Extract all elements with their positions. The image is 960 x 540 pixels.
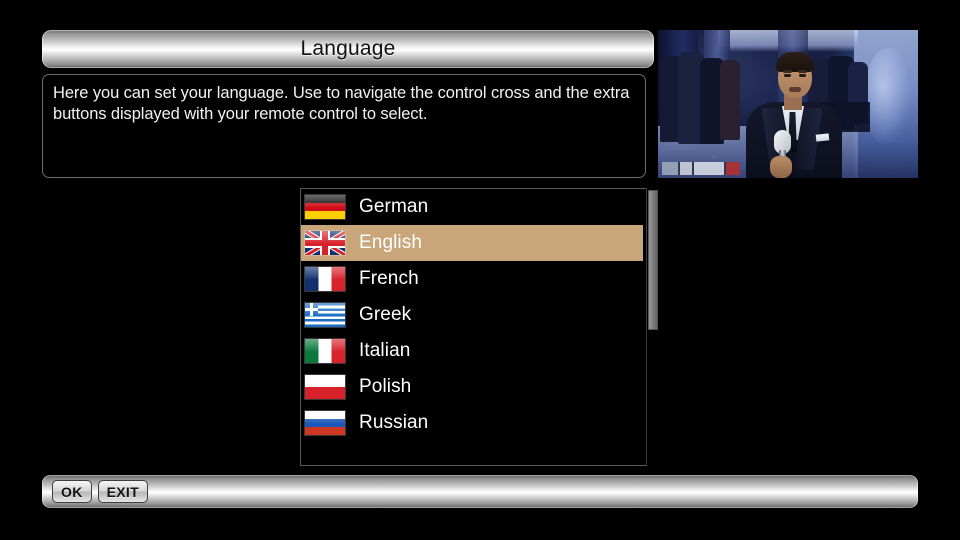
reporter-mouth — [789, 87, 801, 92]
language-list[interactable]: German English French Greek Italian Pol — [300, 188, 658, 466]
list-item-label: Polish — [359, 376, 411, 398]
flag-greece-icon — [305, 303, 345, 327]
help-text-box: Here you can set your language. Use to n… — [42, 74, 646, 178]
list-scrollbar[interactable] — [646, 188, 658, 466]
reporter-eye-left — [784, 74, 791, 77]
list-item-label: Greek — [359, 304, 411, 326]
list-item-label: Russian — [359, 412, 428, 434]
flag-united-kingdom-icon — [305, 231, 345, 255]
flag-germany-icon — [305, 195, 345, 219]
flag-italy-icon — [305, 339, 345, 363]
reporter-hand — [770, 156, 792, 178]
list-item-english[interactable]: English — [301, 225, 643, 261]
tv-settings-screen: Language Here you can set your language.… — [0, 0, 960, 540]
reporter-pocket-square — [816, 133, 830, 141]
list-item-russian[interactable]: Russian — [301, 405, 657, 441]
reporter-eyebrow-right — [798, 70, 807, 73]
flag-france-icon — [305, 267, 345, 291]
list-item-label: English — [359, 232, 422, 254]
reporter-eyebrow-left — [783, 70, 792, 73]
flag-poland-icon — [305, 375, 345, 399]
page-title: Language — [300, 37, 395, 61]
help-text: Here you can set your language. Use to n… — [53, 83, 635, 125]
list-item-greek[interactable]: Greek — [301, 297, 657, 333]
exit-button[interactable]: EXIT — [98, 480, 148, 503]
list-item-french[interactable]: French — [301, 261, 657, 297]
reporter-hair — [776, 52, 814, 72]
ok-button[interactable]: OK — [52, 480, 92, 503]
reporter-eye-right — [799, 74, 806, 77]
list-item-label: German — [359, 196, 428, 218]
list-item-german[interactable]: German — [301, 189, 657, 225]
list-item-italian[interactable]: Italian — [301, 333, 657, 369]
flag-russia-icon — [305, 411, 345, 435]
news-channel-logo-icon — [662, 162, 740, 175]
video-preview[interactable] — [658, 30, 918, 178]
list-item-label: Italian — [359, 340, 410, 362]
bottom-button-bar: OK EXIT — [42, 475, 918, 508]
list-item-polish[interactable]: Polish — [301, 369, 657, 405]
list-scrollbar-thumb[interactable] — [648, 190, 658, 330]
title-bar: Language — [42, 30, 654, 68]
video-crowd-figure — [720, 60, 740, 140]
list-item-label: French — [359, 268, 419, 290]
